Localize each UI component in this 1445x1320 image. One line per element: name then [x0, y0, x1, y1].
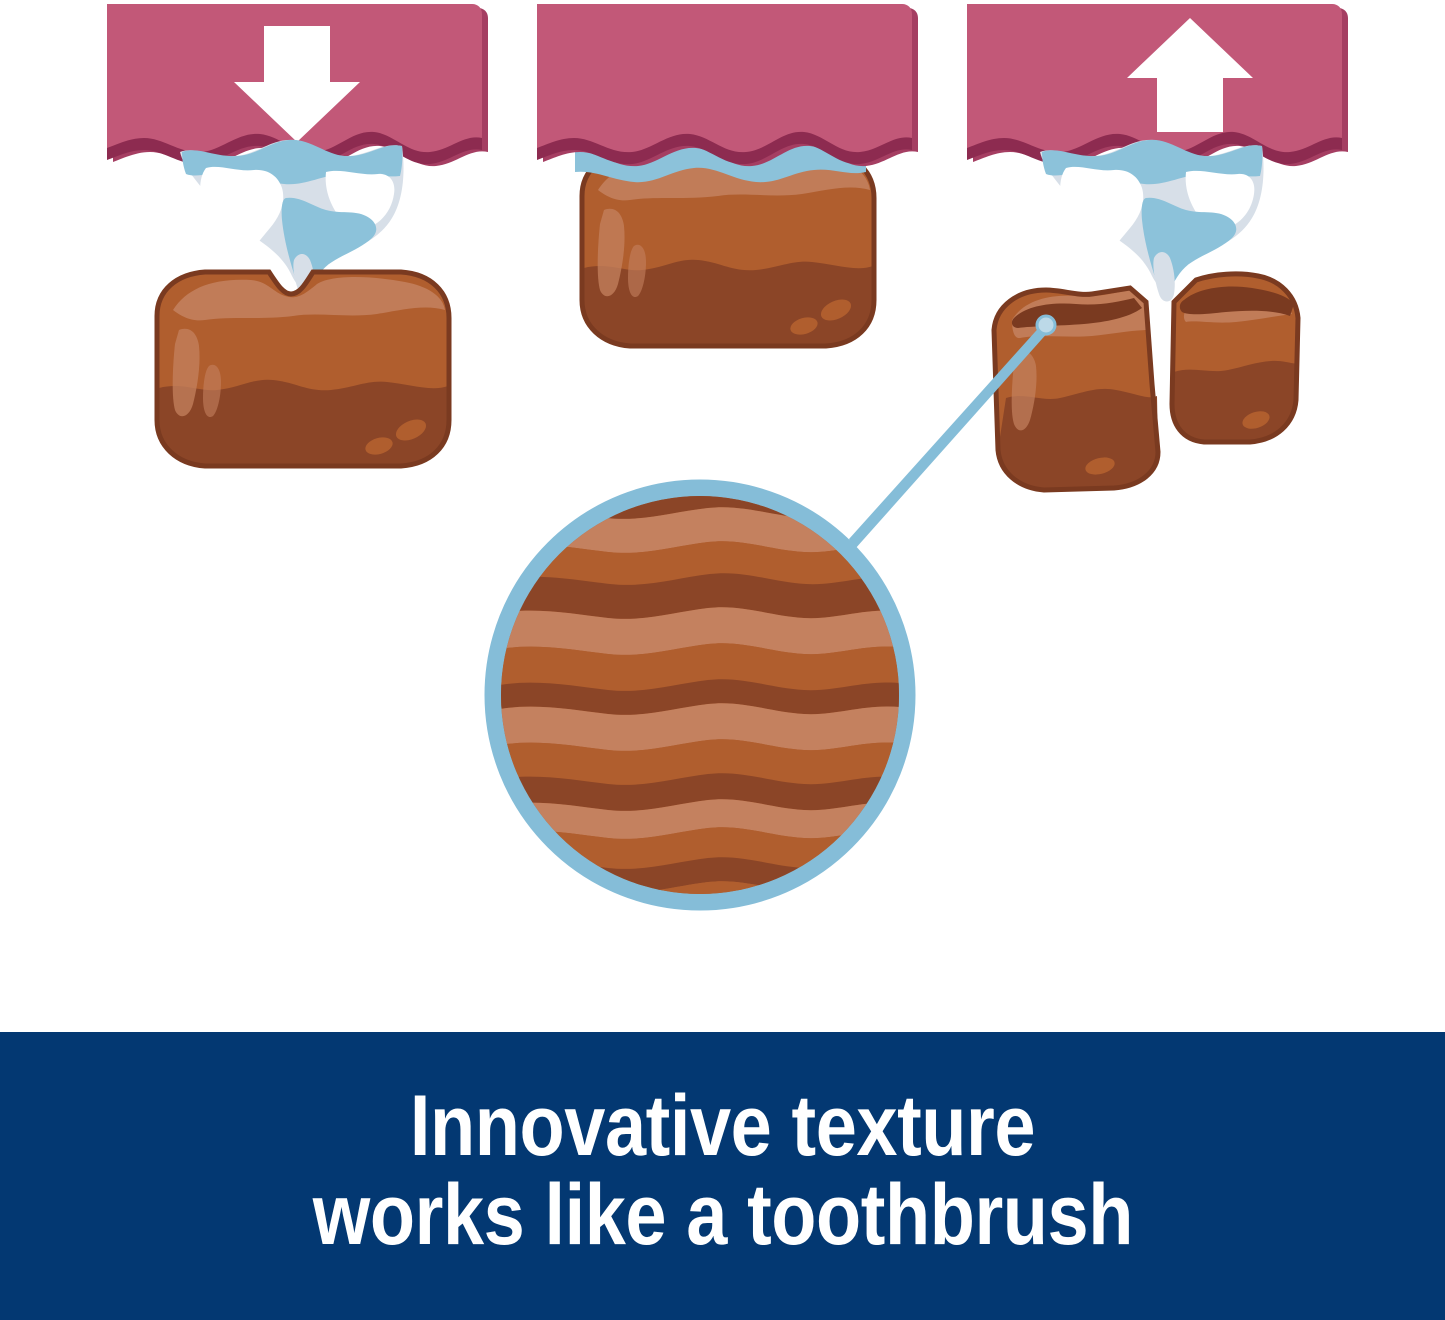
banner-headline-line2: works like a toothbrush	[312, 1171, 1132, 1260]
texture-magnifier	[493, 488, 907, 902]
infographic-root: Innovative texture works like a toothbru…	[0, 0, 1445, 1320]
banner-headline-line1: Innovative texture	[410, 1082, 1035, 1171]
bottom-banner: Innovative texture works like a toothbru…	[0, 1032, 1445, 1320]
panel-lift-up	[967, 4, 1348, 490]
kibble-half-left	[994, 288, 1158, 490]
panel-press-down	[107, 4, 488, 466]
kibble-whole-2	[582, 152, 874, 346]
kibble-half-right	[1172, 274, 1298, 442]
panel-contact	[537, 4, 918, 346]
kibble-whole-1	[157, 272, 449, 466]
gum-block-2	[537, 4, 918, 166]
